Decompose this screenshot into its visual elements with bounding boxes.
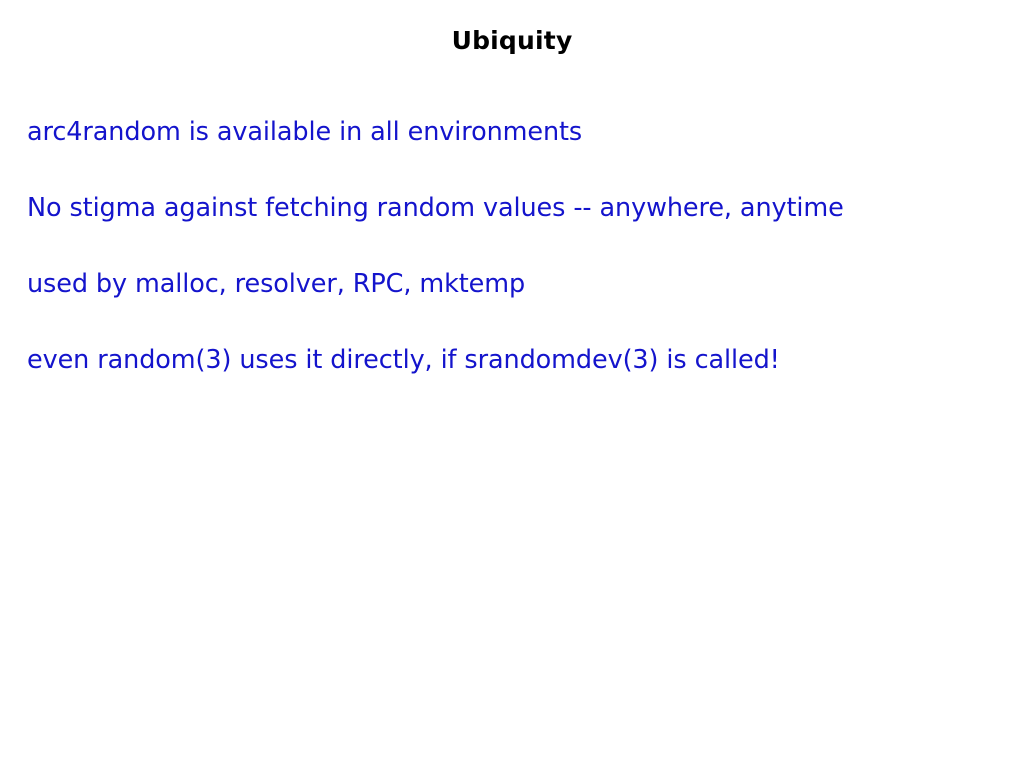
body-line: No stigma against fetching random values… xyxy=(27,192,1002,224)
slide-body-text: arc4random is available in all environme… xyxy=(27,116,1002,376)
body-line: even random(3) uses it directly, if sran… xyxy=(27,344,1002,376)
body-line: used by malloc, resolver, RPC, mktemp xyxy=(27,268,1002,300)
presentation-slide: Ubiquity arc4random is available in all … xyxy=(0,0,1024,768)
body-line: arc4random is available in all environme… xyxy=(27,116,1002,148)
page-title: Ubiquity xyxy=(0,26,1024,56)
